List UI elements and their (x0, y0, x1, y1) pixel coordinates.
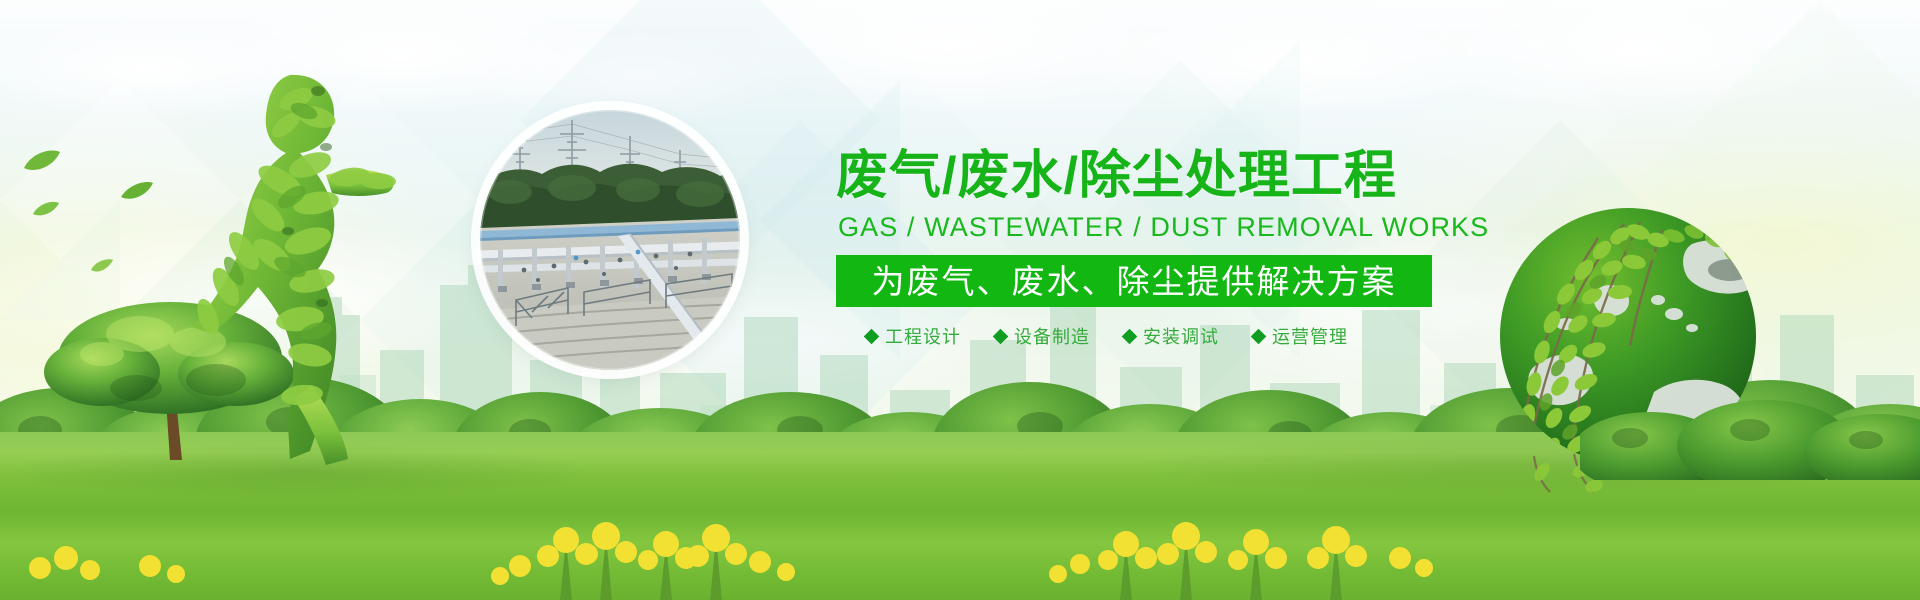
feature-label: 设备制造 (1014, 323, 1090, 349)
diamond-bullet-icon (1122, 328, 1138, 344)
flying-leaf-icon-4 (90, 258, 114, 279)
feature-list: 工程设计 设备制造 安装调试 运营管理 (836, 323, 1456, 349)
slogan-bar: 为废气、废水、除尘提供解决方案 (836, 255, 1432, 307)
feature-label: 运营管理 (1272, 323, 1348, 349)
feature-label: 安装调试 (1143, 323, 1219, 349)
feature-label: 工程设计 (885, 323, 961, 349)
foreground-bush (1580, 390, 1920, 480)
flying-leaf-icon-3 (120, 180, 154, 207)
page-title: 废气/废水/除尘处理工程 (836, 150, 1456, 202)
feature-item: 安装调试 (1124, 323, 1219, 349)
flying-leaf-icon-1 (22, 148, 62, 179)
diamond-bullet-icon (864, 328, 880, 344)
diamond-bullet-icon (993, 328, 1009, 344)
diamond-bullet-icon (1251, 328, 1267, 344)
wastewater-plant-photo (480, 110, 740, 370)
leaf-man-running-figure (140, 55, 400, 475)
eco-engineering-banner: 废气/废水/除尘处理工程 GAS / WASTEWATER / DUST REM… (0, 0, 1920, 600)
feature-item: 运营管理 (1253, 323, 1348, 349)
page-subtitle-english: GAS / WASTEWATER / DUST REMOVAL WORKS (838, 214, 1456, 241)
flying-leaf-icon-2 (32, 200, 60, 223)
slogan-text: 为废气、废水、除尘提供解决方案 (872, 265, 1397, 298)
feature-item: 设备制造 (995, 323, 1090, 349)
feature-item: 工程设计 (866, 323, 961, 349)
banner-text-block: 废气/废水/除尘处理工程 GAS / WASTEWATER / DUST REM… (836, 150, 1456, 349)
